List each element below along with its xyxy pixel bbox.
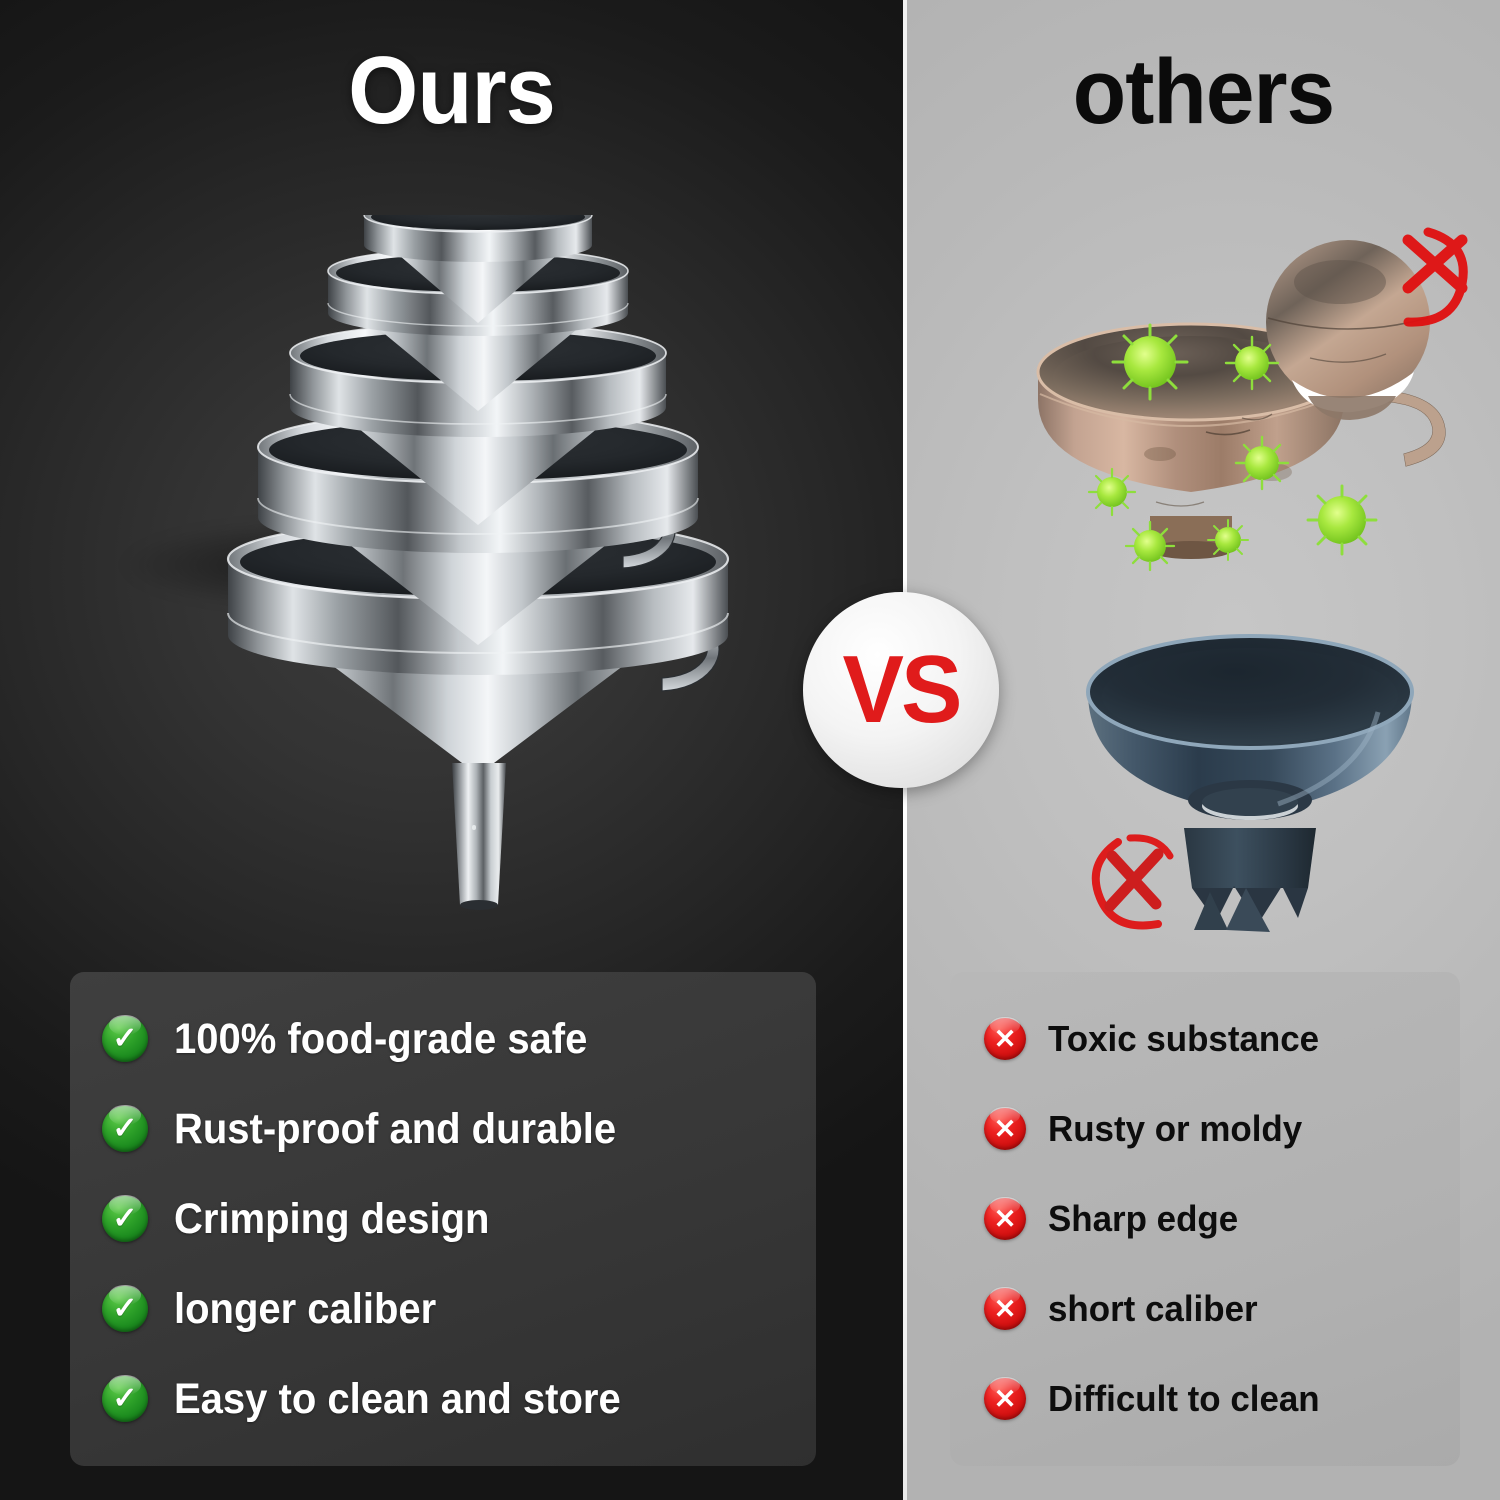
ours-feature-label: 100% food-grade safe xyxy=(174,1015,587,1064)
x-icon-glyph: ✕ xyxy=(984,1108,1026,1150)
ours-feature-row: ✓Rust-proof and durable xyxy=(70,1105,816,1154)
red-x-circle-icon xyxy=(1096,838,1170,926)
others-feature-row: ✕Rusty or moldy xyxy=(950,1108,1460,1150)
plastic-funnel-body xyxy=(1088,636,1412,820)
x-icon-glyph: ✕ xyxy=(984,1198,1026,1240)
ours-feature-panel: ✓100% food-grade safe✓Rust-proof and dur… xyxy=(70,972,816,1466)
x-icon: ✕ xyxy=(984,1198,1026,1240)
stainless-steel-funnel-stack-image xyxy=(180,215,780,915)
ours-title: Ours xyxy=(27,36,876,146)
ours-feature-label: Rust-proof and durable xyxy=(174,1105,616,1154)
ours-feature-row: ✓Crimping design xyxy=(70,1195,816,1244)
x-icon-glyph: ✕ xyxy=(984,1378,1026,1420)
others-feature-row: ✕Difficult to clean xyxy=(950,1378,1460,1420)
rusty-moldy-funnel-image xyxy=(1010,210,1480,610)
germ-icon xyxy=(1113,325,1187,399)
x-icon-glyph: ✕ xyxy=(984,1018,1026,1060)
others-feature-panel: ✕Toxic substance✕Rusty or moldy✕Sharp ed… xyxy=(950,972,1460,1466)
ours-feature-row: ✓Easy to clean and store xyxy=(70,1375,816,1424)
germ-icon xyxy=(1308,486,1376,554)
x-icon-glyph: ✕ xyxy=(984,1288,1026,1330)
ours-feature-row: ✓100% food-grade safe xyxy=(70,1015,816,1064)
check-icon: ✓ xyxy=(102,1106,148,1152)
germ-icon xyxy=(1236,437,1288,489)
check-icon: ✓ xyxy=(102,1376,148,1422)
others-feature-row: ✕short caliber xyxy=(950,1288,1460,1330)
others-feature-label: Sharp edge xyxy=(1048,1198,1238,1240)
broken-plastic-funnel-image xyxy=(1060,630,1480,940)
check-icon-glyph: ✓ xyxy=(102,1376,148,1422)
germ-icon xyxy=(1089,469,1135,515)
x-icon: ✕ xyxy=(984,1378,1026,1420)
broken-spout xyxy=(1184,828,1316,932)
others-feature-label: Toxic substance xyxy=(1048,1018,1319,1060)
ours-feature-label: Easy to clean and store xyxy=(174,1375,621,1424)
vs-label: VS xyxy=(842,642,959,738)
others-feature-label: short caliber xyxy=(1048,1288,1258,1330)
ours-feature-list: ✓100% food-grade safe✓Rust-proof and dur… xyxy=(70,972,816,1466)
others-feature-row: ✕Toxic substance xyxy=(950,1018,1460,1060)
comparison-infographic: Ours others xyxy=(0,0,1500,1500)
germ-icon xyxy=(1208,520,1248,560)
others-feature-label: Difficult to clean xyxy=(1048,1378,1320,1420)
check-icon-glyph: ✓ xyxy=(102,1196,148,1242)
others-feature-row: ✕Sharp edge xyxy=(950,1198,1460,1240)
check-icon: ✓ xyxy=(102,1286,148,1332)
funnel-spout xyxy=(452,763,506,910)
check-icon-glyph: ✓ xyxy=(102,1016,148,1062)
check-icon-glyph: ✓ xyxy=(102,1106,148,1152)
check-icon: ✓ xyxy=(102,1016,148,1062)
x-icon: ✕ xyxy=(984,1288,1026,1330)
x-icon: ✕ xyxy=(984,1108,1026,1150)
ours-feature-label: Crimping design xyxy=(174,1195,489,1244)
others-feature-list: ✕Toxic substance✕Rusty or moldy✕Sharp ed… xyxy=(950,972,1460,1466)
germ-icon xyxy=(1226,337,1278,389)
check-icon-glyph: ✓ xyxy=(102,1286,148,1332)
others-title: others xyxy=(922,40,1485,145)
germ-icon xyxy=(1126,522,1174,570)
check-icon: ✓ xyxy=(102,1196,148,1242)
vs-badge: VS xyxy=(803,592,999,788)
ours-feature-row: ✓longer caliber xyxy=(70,1285,816,1334)
x-icon: ✕ xyxy=(984,1018,1026,1060)
ours-feature-label: longer caliber xyxy=(174,1285,436,1334)
others-feature-label: Rusty or moldy xyxy=(1048,1108,1302,1150)
